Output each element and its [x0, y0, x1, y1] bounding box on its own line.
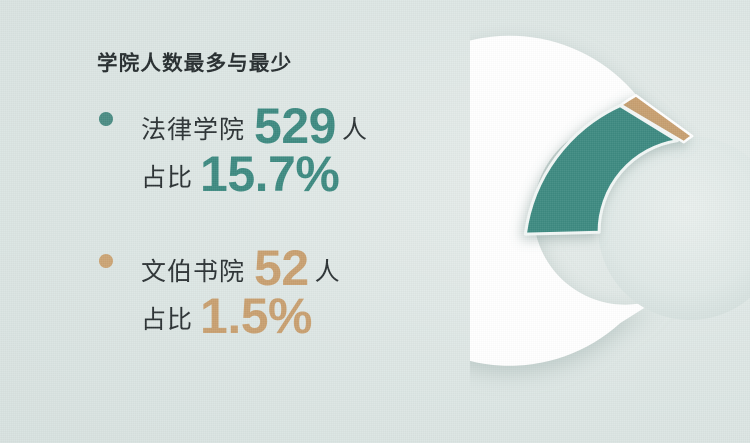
- college-name-wenbo: 文伯书院: [141, 252, 245, 288]
- stat-share-row-wenbo: 占比 1.5%: [141, 286, 312, 336]
- stat-count-row-wenbo: 文伯书院 52 人: [141, 238, 341, 288]
- college-name-law: 法律学院: [141, 110, 245, 146]
- stat-share-row-law: 占比 15.7%: [141, 144, 339, 194]
- donut-chart: [470, 0, 750, 443]
- count-unit-law: 人: [342, 110, 368, 146]
- page-title: 学院人数最多与最少: [97, 46, 292, 76]
- slide-canvas: 学院人数最多与最少 法律学院 529 人 占比 15.7% 文伯书院 52 人: [0, 0, 750, 443]
- share-label-law: 占比: [141, 158, 193, 194]
- share-value-wenbo: 1.5%: [200, 291, 312, 341]
- stat-count-row-law: 法律学院 529 人: [141, 96, 368, 146]
- share-label-wenbo: 占比: [141, 300, 193, 336]
- count-unit-wenbo: 人: [315, 252, 341, 288]
- bullet-dot-law: [99, 112, 113, 126]
- share-value-law: 15.7%: [200, 149, 339, 199]
- text-panel: 学院人数最多与最少 法律学院 529 人 占比 15.7% 文伯书院 52 人: [0, 0, 470, 443]
- bullet-dot-wenbo: [99, 254, 113, 268]
